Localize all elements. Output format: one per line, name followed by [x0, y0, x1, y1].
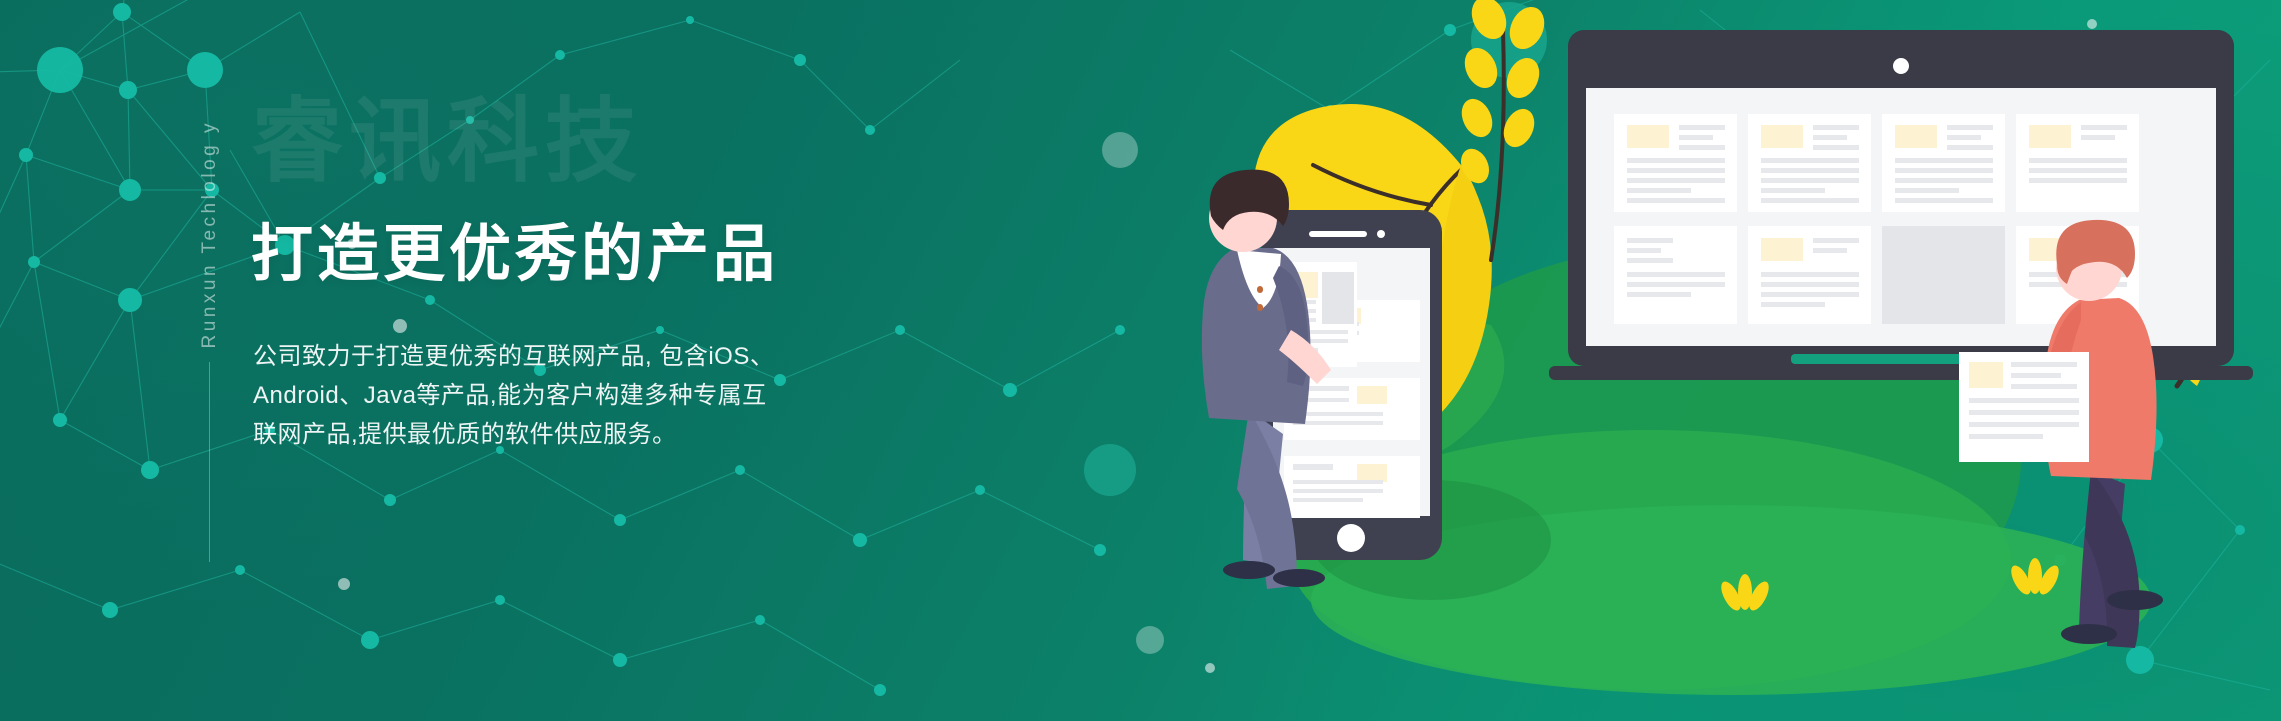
- brand-rail-divider: [209, 362, 210, 562]
- brand-vertical-rail: Runxun Techlolog y: [189, 120, 229, 640]
- banner-text-column: Runxun Techlolog y 睿讯科技 打造更优秀的产品 公司致力于打造…: [0, 0, 1150, 721]
- phone-card: [1284, 456, 1420, 518]
- laptop-card: [1748, 114, 1871, 212]
- laptop-card: [1882, 226, 2005, 324]
- watermark-company-name: 睿讯科技: [251, 96, 643, 188]
- banner-headline: 打造更优秀的产品: [251, 222, 779, 287]
- laptop-card: [1614, 226, 1737, 324]
- laptop-device: [1549, 30, 2253, 380]
- people-with-devices-illustration: [1131, 0, 2281, 721]
- description-line-3: 联网产品,提供最优质的软件供应服务。: [253, 416, 813, 455]
- banner-description: 公司致力于打造更优秀的互联网产品, 包含iOS、 Android、Java等产品…: [253, 338, 813, 455]
- laptop-card: [1748, 226, 1871, 324]
- laptop-card: [2016, 114, 2139, 212]
- brand-rail-text: Runxun Techlolog y: [200, 120, 219, 348]
- laptop-card: [1882, 114, 2005, 212]
- description-line-1: 公司致力于打造更优秀的互联网产品, 包含iOS、: [253, 338, 813, 377]
- floating-document-right: [1959, 352, 2089, 462]
- description-line-2: Android、Java等产品,能为客户构建多种专属互: [253, 377, 813, 416]
- laptop-card: [1614, 114, 1737, 212]
- hero-banner: Runxun Techlolog y 睿讯科技 打造更优秀的产品 公司致力于打造…: [0, 0, 2281, 721]
